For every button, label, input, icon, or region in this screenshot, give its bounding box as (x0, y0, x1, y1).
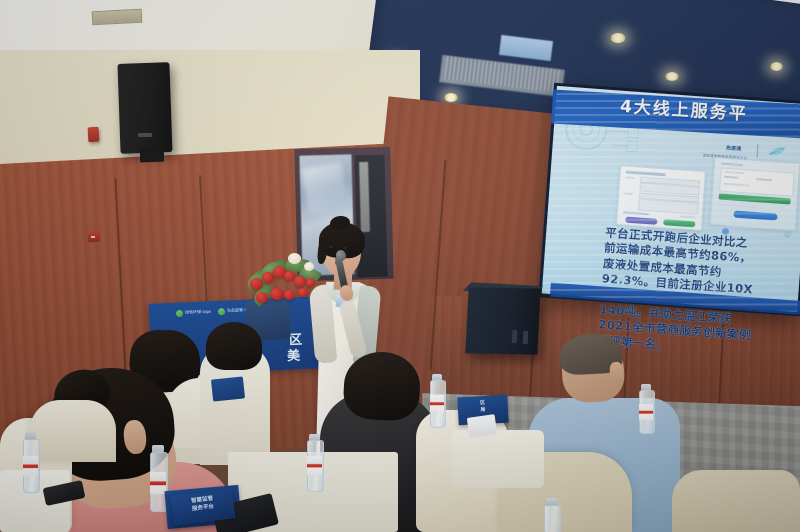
leaf-logo-icon (176, 309, 183, 316)
banner-text-line2: 美 (287, 345, 301, 365)
banner-logo-label: 绿色环保-logo (185, 309, 211, 316)
table-cloth (452, 430, 544, 488)
bouquet-rose (262, 272, 274, 283)
bouquet-rose (250, 278, 263, 290)
slide-mockup-left (616, 165, 706, 231)
bottle-label (307, 456, 322, 475)
recessed-downlight-icon (610, 33, 626, 43)
bouquet-white-bloom (288, 253, 301, 264)
bouquet-white-bloom (304, 262, 314, 271)
bouquet-rose (306, 278, 315, 287)
chair-back (30, 400, 116, 462)
speaker-port-icon (523, 331, 529, 344)
glass-reflection (301, 162, 348, 214)
wall-mounted-pa-speaker (117, 62, 172, 154)
paper-sheet (467, 414, 498, 438)
water-bottle[interactable] (544, 505, 561, 532)
bouquet-rose (298, 288, 308, 297)
attendee-far-right (672, 470, 800, 532)
alarm-led-icon (91, 236, 95, 238)
speaker-brand-logo-icon (138, 133, 152, 137)
presenter-eye-left (329, 246, 333, 248)
ceiling-air-vent-left-icon (92, 9, 143, 26)
leaf-logo-icon (218, 308, 225, 315)
bouquet-rose (284, 290, 295, 300)
speaker-port-icon (512, 330, 518, 343)
recessed-downlight-icon (770, 62, 783, 71)
speaker-mount-bracket (140, 148, 164, 163)
attendee-center-man-hair (206, 322, 262, 370)
mockup-submit-button (663, 219, 695, 227)
bouquet-rose (256, 292, 268, 303)
bouquet-rose (270, 288, 284, 300)
bottle-label (23, 456, 38, 476)
fire-alarm-call-point-icon[interactable] (88, 127, 100, 143)
bottle-label (639, 404, 653, 420)
slide-brand-leaf-icon (766, 143, 789, 159)
blue-tablet-placard[interactable] (211, 376, 245, 401)
bouquet-rose (294, 276, 306, 287)
mockup-reset-button (625, 217, 657, 225)
banner-logo-1: 绿色环保-logo (176, 308, 211, 317)
presenter-eye-right (343, 247, 347, 249)
bottle-label (430, 395, 444, 412)
floor-standing-speaker (465, 287, 540, 354)
corridor-light-strip (359, 162, 370, 232)
recessed-downlight-icon (665, 72, 679, 81)
placard-line2: 局 (458, 406, 508, 416)
recessed-downlight-icon (444, 93, 458, 102)
conference-room-photo: 4大线上服务平 危废通 固体废物智慧监管服务平台 平台正式开跑后企业对比 (0, 0, 800, 532)
slide-mockup-right (710, 157, 800, 231)
slide-brand-name: 危废通 (726, 145, 742, 154)
mockup-confirm-button (733, 211, 777, 221)
attendee-right-ear (609, 361, 624, 382)
